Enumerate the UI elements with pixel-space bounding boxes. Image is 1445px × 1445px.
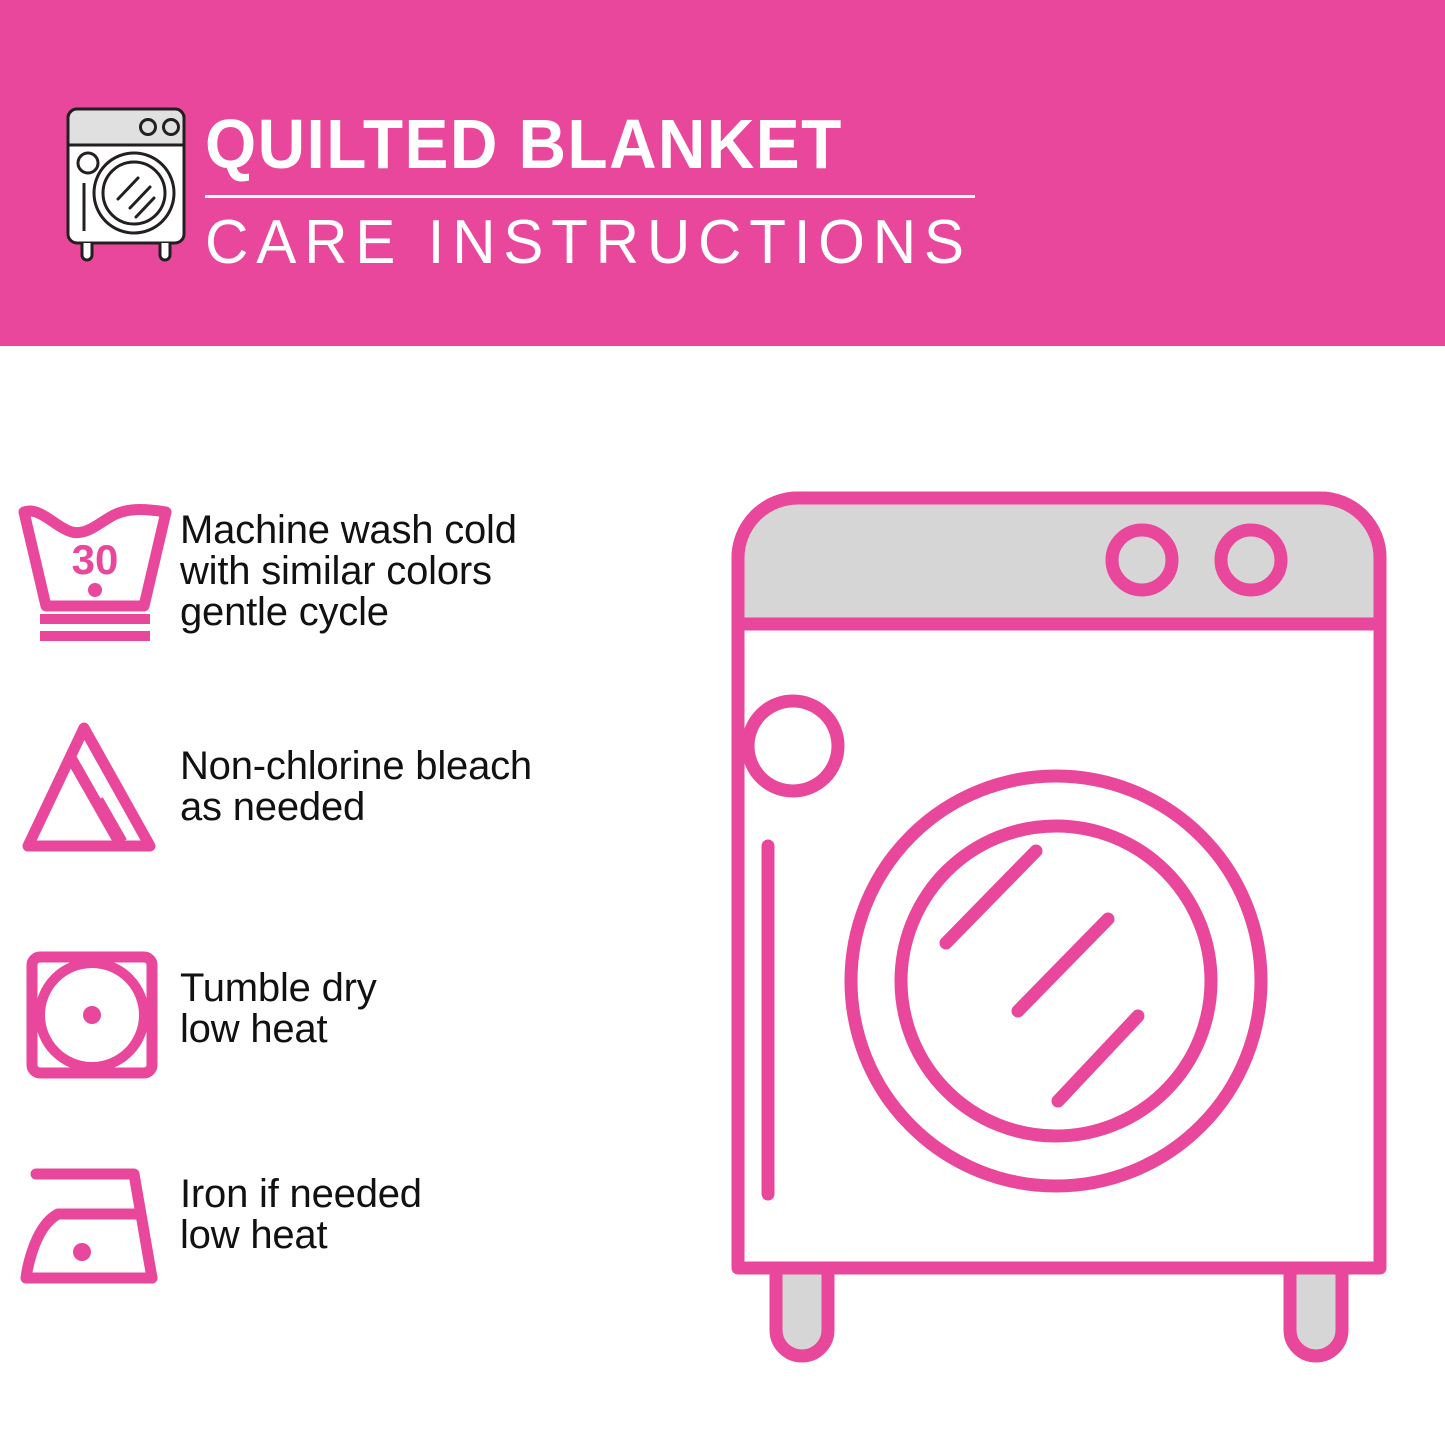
- care-instructions-infographic: QUILTED BLANKET CARE INSTRUCTIONS 30: [0, 0, 1445, 1445]
- header-title-block: QUILTED BLANKET CARE INSTRUCTIONS: [205, 105, 1005, 278]
- care-row-tumble-dry: Tumble dry low heat: [0, 940, 700, 1090]
- care-row-bleach: Non-chlorine bleach as needed: [0, 716, 700, 866]
- header-banner: QUILTED BLANKET CARE INSTRUCTIONS: [0, 0, 1445, 346]
- title-divider: [205, 195, 975, 198]
- page-title: QUILTED BLANKET: [205, 105, 957, 183]
- large-washing-machine-illustration: [718, 478, 1398, 1373]
- tumble-dry-low-icon: [0, 940, 180, 1090]
- care-text-bleach: Non-chlorine bleach as needed: [180, 716, 532, 828]
- washing-machine-icon: [60, 103, 192, 263]
- iron-low-heat-icon: [0, 1152, 180, 1302]
- machine-wash-30-gentle-icon: 30: [0, 498, 180, 648]
- page-subtitle: CARE INSTRUCTIONS: [205, 208, 981, 278]
- non-chlorine-bleach-icon: [0, 716, 180, 866]
- care-text-machine-wash: Machine wash cold with similar colors ge…: [180, 498, 517, 633]
- care-row-machine-wash: 30 Machine wash cold with similar colors…: [0, 498, 700, 648]
- care-row-iron: Iron if needed low heat: [0, 1152, 700, 1302]
- care-text-tumble-dry: Tumble dry low heat: [180, 940, 377, 1050]
- wash-temperature-label: 30: [72, 536, 119, 583]
- care-text-iron: Iron if needed low heat: [180, 1152, 422, 1256]
